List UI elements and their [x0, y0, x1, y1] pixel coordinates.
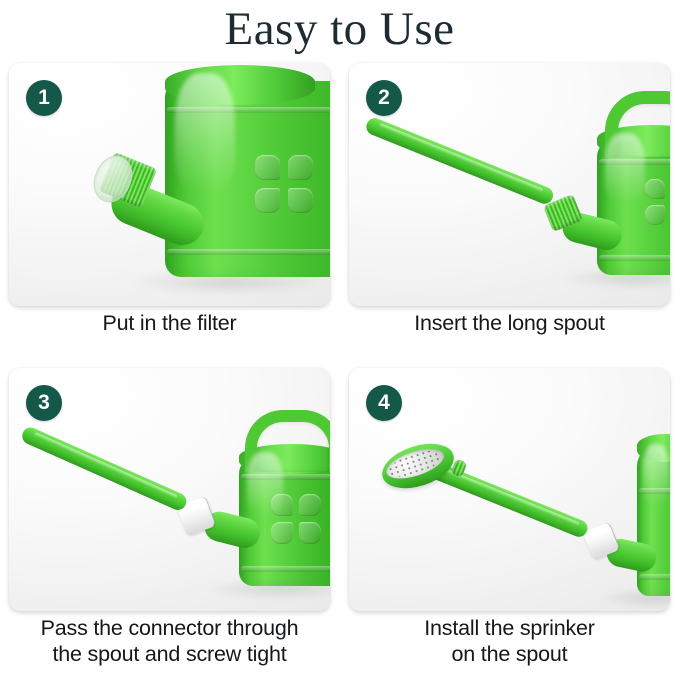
- step-caption-3-line1: Pass the connector through: [41, 616, 299, 640]
- step-badge-3: 3: [26, 385, 62, 421]
- step-card-4: 4 Install the sprinker on the spout: [349, 368, 670, 668]
- steps-grid: 1 Put in the filter: [0, 63, 679, 673]
- step-image-1: 1: [9, 63, 330, 306]
- step-caption-2: Insert the long spout: [349, 310, 670, 336]
- spout-highlight: [441, 467, 580, 526]
- step-caption-2-line1: Insert the long spout: [414, 311, 605, 335]
- contact-shadow: [129, 269, 329, 295]
- step-caption-3-line2: the spout and screw tight: [9, 641, 330, 667]
- step-caption-3: Pass the connector through the spout and…: [9, 615, 330, 667]
- can-band-lower: [599, 255, 670, 261]
- step-card-3: 3 Pass the connector through the spout a…: [9, 368, 330, 668]
- step-caption-1: Put in the filter: [9, 310, 330, 336]
- clover-emblem: [645, 179, 670, 225]
- spout-highlight: [379, 123, 544, 193]
- can-gloss: [605, 133, 645, 203]
- clover-emblem: [255, 155, 313, 213]
- contact-shadow: [599, 588, 670, 608]
- step-image-3: 3: [9, 368, 330, 611]
- step-badge-4: 4: [366, 385, 402, 421]
- step-card-1: 1 Put in the filter: [9, 63, 330, 363]
- step-card-2: 2 Insert the long spout: [349, 63, 670, 363]
- step-badge-2: 2: [366, 80, 402, 116]
- can-band-lower: [167, 249, 330, 255]
- step-caption-4-line1: Install the sprinker: [424, 616, 594, 640]
- step-caption-4-line2: on the spout: [349, 641, 670, 667]
- sprinkler-head: [377, 436, 460, 497]
- long-spout-tube: [364, 116, 556, 207]
- clover-emblem: [271, 494, 321, 544]
- easy-to-use-infographic: Easy to Use: [0, 0, 679, 686]
- can-gloss: [643, 444, 669, 506]
- contact-shadow: [205, 578, 330, 600]
- long-spout-tube: [20, 425, 190, 513]
- can-band-lower: [241, 566, 330, 572]
- step-image-2: 2: [349, 63, 670, 306]
- can-gloss: [175, 73, 235, 193]
- step-caption-4: Install the sprinker on the spout: [349, 615, 670, 667]
- step-caption-1-line1: Put in the filter: [102, 311, 236, 335]
- step-badge-1: 1: [26, 80, 62, 116]
- page-title: Easy to Use: [0, 2, 679, 56]
- can-band-lower: [639, 574, 670, 580]
- step-image-4: 4: [349, 368, 670, 611]
- spout-highlight: [33, 432, 178, 500]
- contact-shadow: [559, 267, 670, 289]
